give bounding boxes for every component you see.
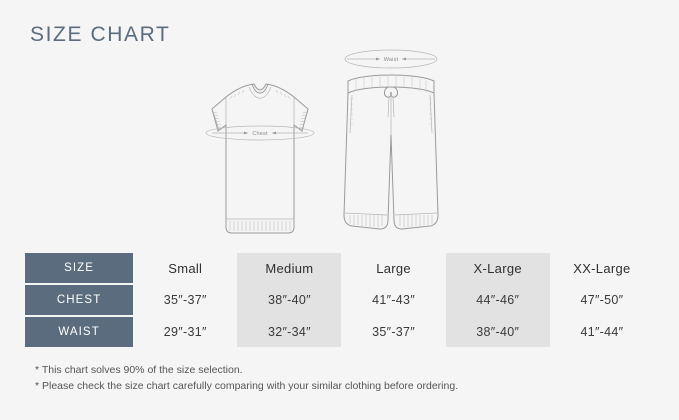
cell-size-xlarge: X-Large	[446, 253, 550, 284]
cell-chest-xxlarge: 47″-50″	[550, 284, 654, 316]
pants-illustration: Waist	[326, 35, 456, 252]
footnotes: * This chart solves 90% of the size sele…	[35, 362, 458, 394]
cell-waist-xxlarge: 41″-44″	[550, 316, 654, 347]
waist-measure-label: Waist	[384, 57, 399, 63]
cell-waist-large: 35″-37″	[341, 316, 445, 347]
table-row-chest: CHEST 35″-37″ 38″-40″ 41″-43″ 44″-46″ 47…	[25, 284, 654, 316]
cell-size-small: Small	[133, 253, 237, 284]
illustration-area: Chest Waist	[0, 30, 679, 245]
cell-chest-small: 35″-37″	[133, 284, 237, 316]
cell-size-xxlarge: XX-Large	[550, 253, 654, 284]
footnote-1: * This chart solves 90% of the size sele…	[35, 362, 458, 378]
cell-chest-large: 41″-43″	[341, 284, 445, 316]
cell-waist-medium: 32″-34″	[237, 316, 341, 347]
cell-size-medium: Medium	[237, 253, 341, 284]
t-shirt-illustration: Chest	[196, 75, 324, 250]
chest-measure-label: Chest	[252, 131, 268, 137]
size-chart-table: SIZE Small Medium Large X-Large XX-Large…	[25, 253, 654, 347]
cell-size-large: Large	[341, 253, 445, 284]
row-header-chest: CHEST	[25, 284, 133, 316]
table-row-size: SIZE Small Medium Large X-Large XX-Large	[25, 253, 654, 284]
cell-waist-small: 29″-31″	[133, 316, 237, 347]
cell-waist-xlarge: 38″-40″	[446, 316, 550, 347]
cell-chest-xlarge: 44″-46″	[446, 284, 550, 316]
footnote-2: * Please check the size chart carefully …	[35, 378, 458, 394]
cell-chest-medium: 38″-40″	[237, 284, 341, 316]
row-header-waist: WAIST	[25, 316, 133, 347]
row-header-size: SIZE	[25, 253, 133, 284]
table-row-waist: WAIST 29″-31″ 32″-34″ 35″-37″ 38″-40″ 41…	[25, 316, 654, 347]
